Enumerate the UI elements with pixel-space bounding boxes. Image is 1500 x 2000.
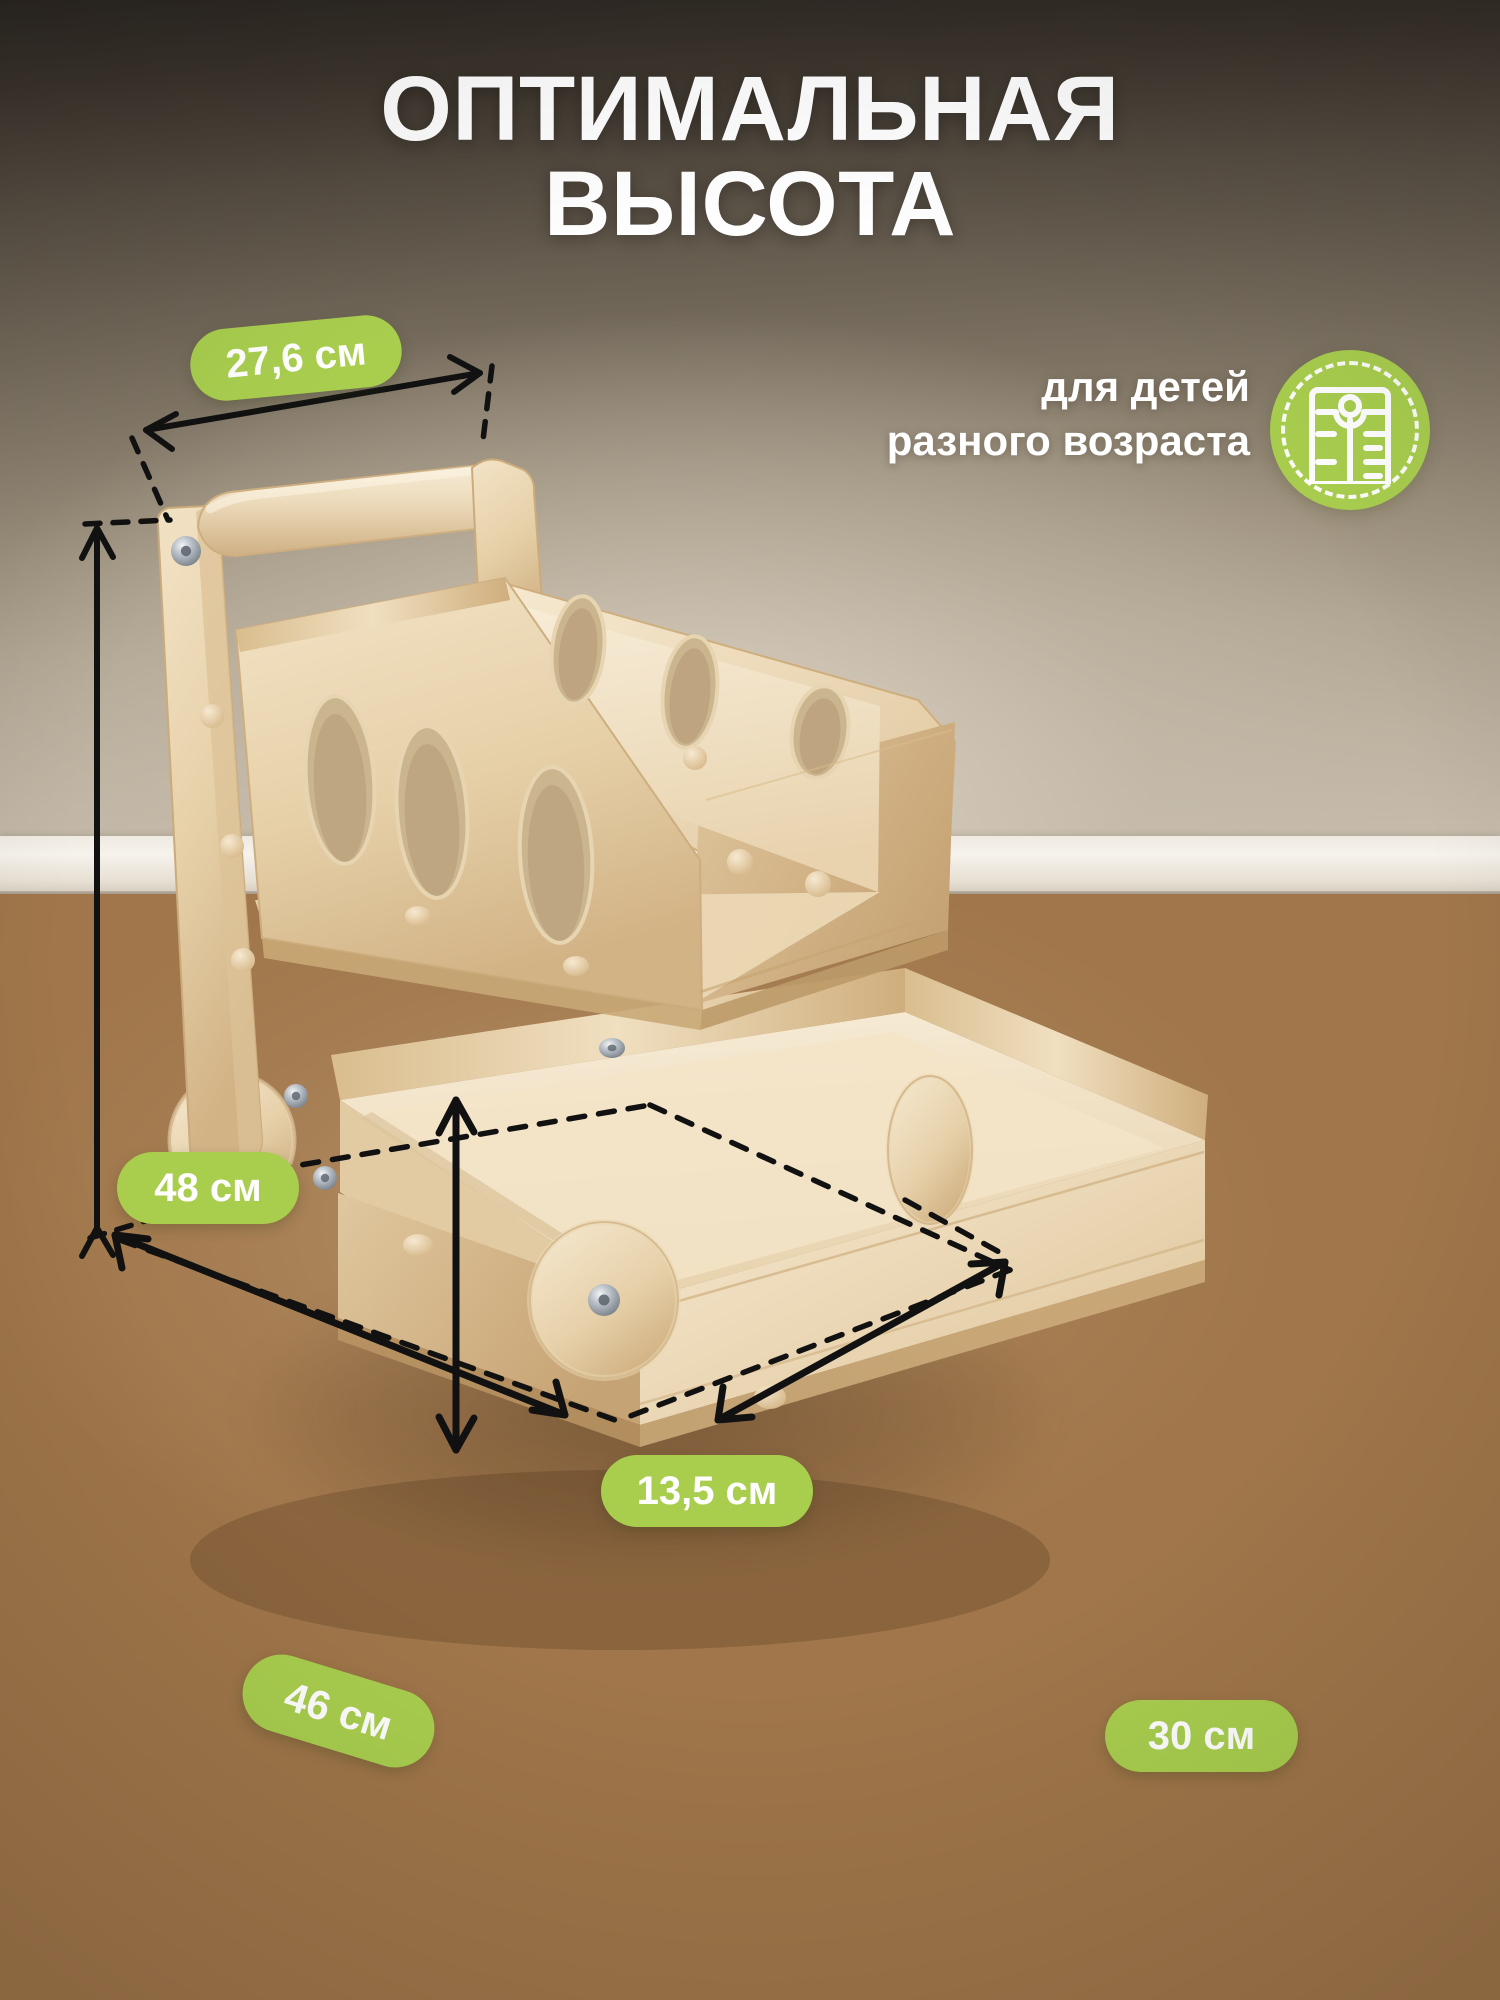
infographic-canvas: ОПТИМАЛЬНАЯ ВЫСОТА для детей разного воз… <box>0 0 1500 2000</box>
ruler-glyph <box>1304 376 1396 484</box>
age-badge-line-2: разного возраста <box>830 414 1250 468</box>
dimension-label-48-cm: 48 см <box>117 1152 299 1224</box>
age-badge: для детей разного возраста <box>770 350 1430 540</box>
height-ruler-icon <box>1270 350 1430 510</box>
background-baseboard <box>0 836 1500 898</box>
dimension-label-30-cm: 30 см <box>1105 1700 1298 1772</box>
page-title-line-1: ОПТИМАЛЬНАЯ <box>0 62 1500 157</box>
age-badge-line-1: для детей <box>830 360 1250 414</box>
background-floor <box>0 894 1500 2000</box>
dimension-label-13-5-cm: 13,5 см <box>601 1455 813 1527</box>
page-title-line-2: ВЫСОТА <box>0 157 1500 252</box>
age-badge-text: для детей разного возраста <box>830 360 1250 468</box>
page-title: ОПТИМАЛЬНАЯ ВЫСОТА <box>0 62 1500 252</box>
